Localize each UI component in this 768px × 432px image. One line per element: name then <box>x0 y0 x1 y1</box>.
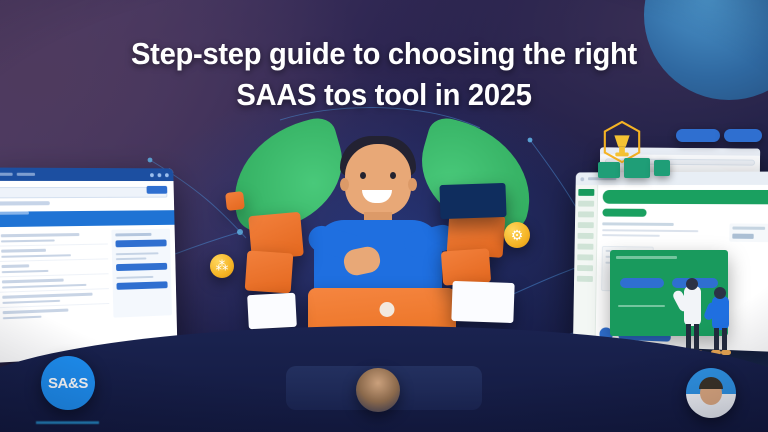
vignette-overlay <box>0 0 768 432</box>
hero-graphic-canvas: Step-step guide to choosing the right SA… <box>0 0 768 432</box>
